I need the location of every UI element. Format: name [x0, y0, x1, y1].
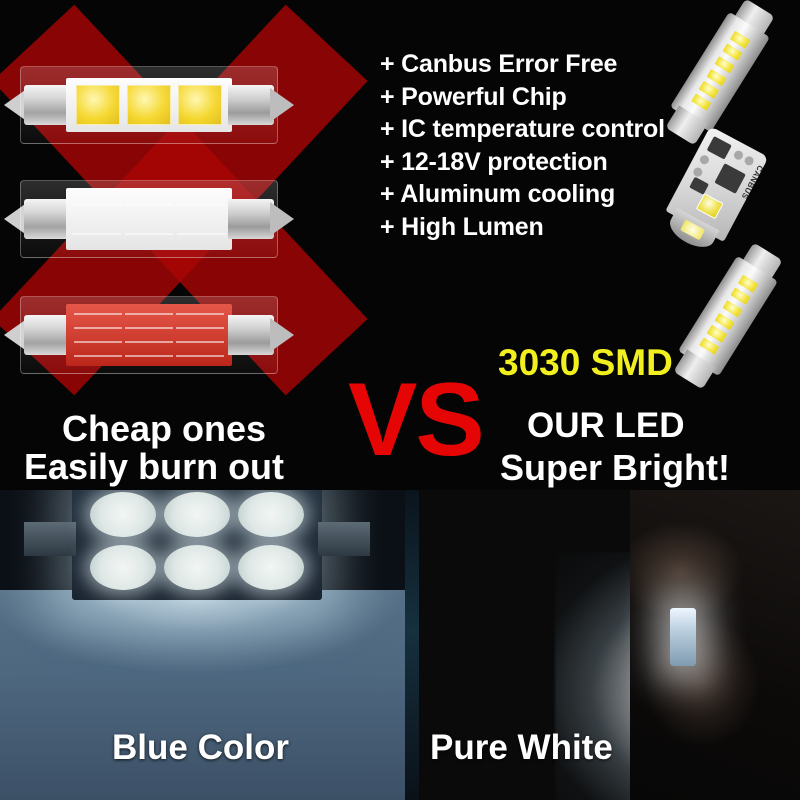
lit-smd [238, 545, 304, 590]
festoon-cap-right [228, 315, 274, 355]
cheap-bulb-pcb [66, 78, 232, 132]
lit-smd-grid [90, 492, 304, 590]
lit-smd [238, 492, 304, 537]
feature-list: + Canbus Error Free + Powerful Chip + IC… [380, 48, 690, 243]
festoon-cap-left [24, 85, 70, 125]
our-headline-line2: Super Bright! [500, 447, 730, 489]
feature-item: + Aluminum cooling [380, 178, 690, 211]
smd-chip [125, 341, 173, 343]
smd-chip [176, 355, 224, 357]
smd-chip [125, 204, 174, 206]
pure-white-photo: Pure White [405, 490, 800, 800]
smd-chip [74, 313, 122, 315]
solder-pad [698, 154, 710, 166]
cheap-bulb-3smd [18, 62, 280, 148]
top-comparison-panel: + Canbus Error Free + Powerful Chip + IC… [0, 0, 800, 500]
our-bulb-festoon-top [680, 16, 760, 128]
festoon-cap-left [24, 199, 70, 239]
lit-our-bulb [670, 608, 696, 666]
cheap-headline-line2: Easily burn out [24, 446, 284, 488]
smd-chip [176, 327, 224, 329]
bulb-endcap-left [24, 522, 76, 556]
versus-label: VS [348, 368, 483, 472]
ic-chip [707, 136, 732, 160]
feature-item: + Powerful Chip [380, 81, 690, 114]
lit-smd [90, 492, 156, 537]
feature-item: + 12-18V protection [380, 146, 690, 179]
smd-chip [72, 233, 121, 235]
smd-chip [74, 327, 122, 329]
smd-chip [176, 313, 224, 315]
our-bulb-festoon-bottom [688, 260, 768, 372]
smd-chip [72, 204, 121, 206]
our-headline-line1: OUR LED [527, 406, 685, 446]
smd-chip [696, 193, 724, 219]
smd-chip [680, 219, 706, 240]
cheap-bulb-red-pcb [18, 292, 280, 378]
cheap-headline-line1: Cheap ones [62, 408, 266, 450]
blue-light-surface [0, 590, 405, 800]
driver-chip [714, 163, 746, 194]
festoon-tip-right [270, 88, 294, 122]
solder-pad [732, 149, 744, 161]
smd-chip [76, 85, 120, 125]
blue-color-label: Blue Color [112, 728, 289, 768]
pure-white-label: Pure White [430, 728, 613, 768]
smd-chip [125, 327, 173, 329]
lit-cheap-bulb [72, 490, 322, 600]
feature-item: + IC temperature control [380, 113, 690, 146]
bottom-photo-comparison: Blue Color Pure White [0, 490, 800, 800]
smd-chip [177, 204, 226, 206]
festoon-cap-right [228, 85, 274, 125]
festoon-tip-right [270, 202, 294, 236]
smd-type-label: 3030 SMD [498, 342, 673, 384]
festoon-cap-left [24, 315, 70, 355]
solder-pad [743, 155, 755, 167]
bulb-endcap-right [318, 522, 370, 556]
photo-edge-strip [405, 490, 419, 800]
lit-smd [164, 545, 230, 590]
festoon-cap-right [228, 199, 274, 239]
resistor-chip [689, 177, 709, 195]
hand-holding-bulb [630, 490, 800, 800]
smd-chip [125, 233, 174, 235]
lit-smd [90, 545, 156, 590]
cheap-bulb-6smd [18, 176, 280, 262]
lit-smd [164, 492, 230, 537]
smd-chip [176, 341, 224, 343]
smd-chip [178, 85, 222, 125]
festoon-tip-right [270, 318, 294, 352]
smd-chip [127, 85, 171, 125]
smd-chip [74, 355, 122, 357]
feature-item: + High Lumen [380, 211, 690, 244]
product-comparison-image: + Canbus Error Free + Powerful Chip + IC… [0, 0, 800, 800]
smd-chip [125, 355, 173, 357]
canbus-marking: CANBUS [739, 164, 764, 201]
smd-chip [125, 313, 173, 315]
feature-item: + Canbus Error Free [380, 48, 690, 81]
cheap-bulb-pcb [66, 188, 232, 250]
smd-chip [177, 233, 226, 235]
blue-color-photo: Blue Color [0, 490, 405, 800]
solder-pad [692, 166, 704, 178]
cheap-bulb-pcb [66, 304, 232, 366]
smd-chip [74, 341, 122, 343]
